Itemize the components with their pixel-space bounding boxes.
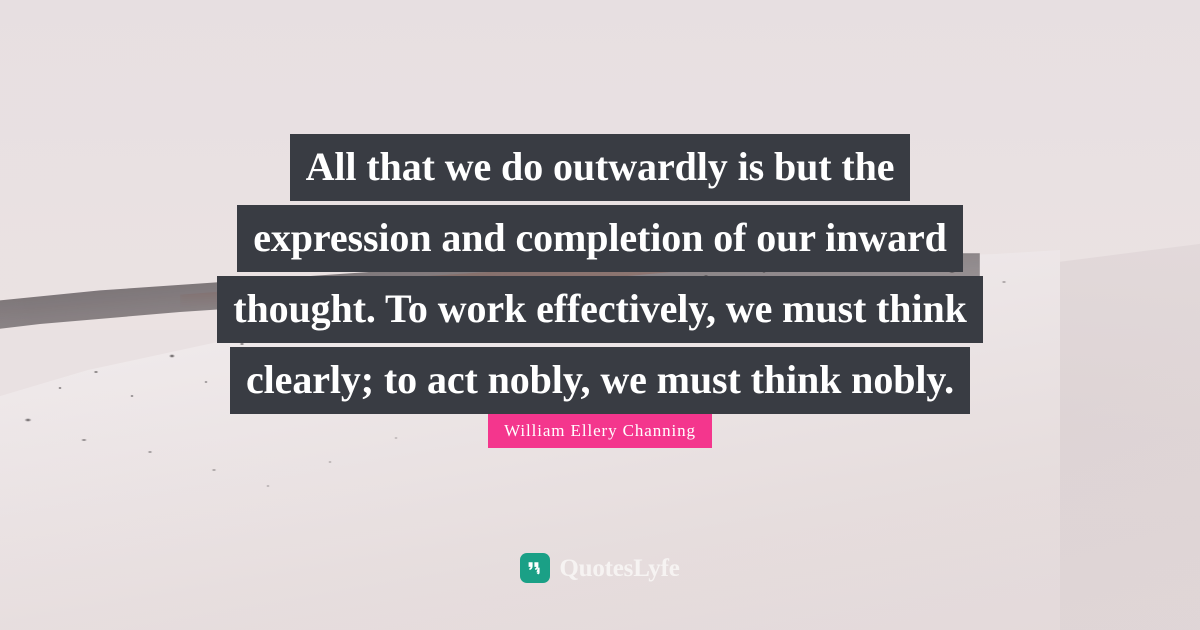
quote-text: All that we do outwardly is but the expr… <box>0 134 1200 418</box>
quote-line-row: All that we do outwardly is but the <box>0 134 1200 205</box>
author-name: William Ellery Channing <box>488 414 712 448</box>
quote-line-row: clearly; to act nobly, we must think nob… <box>0 347 1200 418</box>
brand-name: QuotesLyfe <box>559 556 679 581</box>
author-attribution: William Ellery Channing <box>0 414 1200 448</box>
quote-line-row: expression and completion of our inward <box>0 205 1200 276</box>
quote-line-1: All that we do outwardly is but the <box>290 134 911 201</box>
quote-line-4: clearly; to act nobly, we must think nob… <box>230 347 970 414</box>
quote-line-row: thought. To work effectively, we must th… <box>0 276 1200 347</box>
quote-line-3: thought. To work effectively, we must th… <box>217 276 983 343</box>
quote-line-2: expression and completion of our inward <box>237 205 963 272</box>
brand-logo: QuotesLyfe <box>0 553 1200 583</box>
quote-card: All that we do outwardly is but the expr… <box>0 0 1200 630</box>
quote-mark-icon <box>520 553 550 583</box>
